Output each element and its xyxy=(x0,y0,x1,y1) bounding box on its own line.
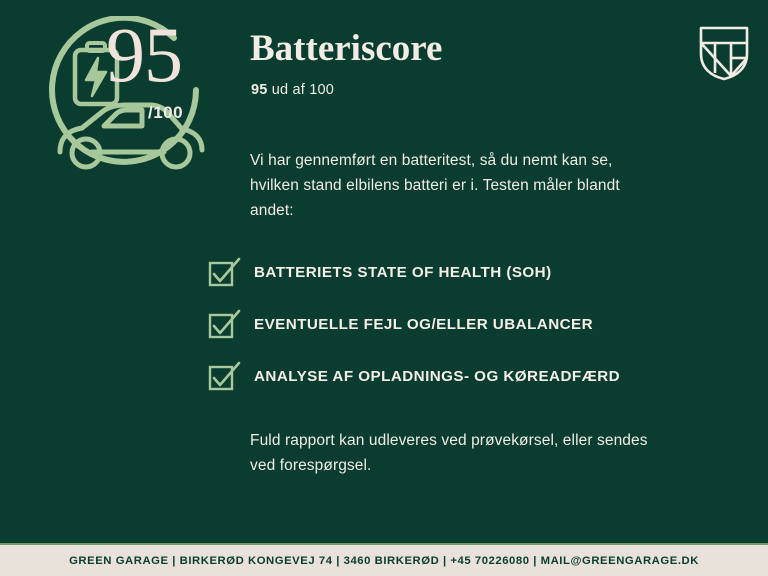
checkbox-checked-icon xyxy=(208,309,242,339)
outro-paragraph: Fuld rapport kan udleveres ved prøvekørs… xyxy=(250,428,670,478)
list-item: ANALYSE AF OPLADNINGS- OG KØREADFÆRD xyxy=(208,350,748,402)
checkbox-checked-icon xyxy=(208,361,242,391)
checkbox-checked-icon xyxy=(208,257,242,287)
checklist-item-label: EVENTUELLE FEJL OG/ELLER UBALANCER xyxy=(254,316,593,333)
score-subtitle: 95 ud af 100 xyxy=(251,82,334,98)
score-subtitle-value: 95 xyxy=(251,82,268,98)
green-garage-shield-logo xyxy=(697,24,751,82)
footer-bar: GREEN GARAGE | BIRKERØD KONGEVEJ 74 | 34… xyxy=(0,545,768,576)
intro-paragraph: Vi har gennemført en batteritest, så du … xyxy=(250,148,662,223)
batteriscore-slide: 95 /100 Batteriscore 95 ud af 100 Vi har… xyxy=(0,0,768,576)
page-title: Batteriscore xyxy=(250,28,442,70)
feature-checklist: BATTERIETS STATE OF HEALTH (SOH) EVENTUE… xyxy=(208,246,748,402)
shield-outline xyxy=(701,28,747,79)
score-value: 95 xyxy=(106,16,182,94)
score-denominator: /100 xyxy=(148,103,183,123)
score-subtitle-rest: ud af 100 xyxy=(268,82,335,98)
checklist-item-label: BATTERIETS STATE OF HEALTH (SOH) xyxy=(254,264,552,281)
list-item: BATTERIETS STATE OF HEALTH (SOH) xyxy=(208,246,748,298)
footer-contact-text: GREEN GARAGE | BIRKERØD KONGEVEJ 74 | 34… xyxy=(69,555,699,567)
shield-icon xyxy=(697,24,751,82)
list-item: EVENTUELLE FEJL OG/ELLER UBALANCER xyxy=(208,298,748,350)
checklist-item-label: ANALYSE AF OPLADNINGS- OG KØREADFÆRD xyxy=(254,368,620,385)
